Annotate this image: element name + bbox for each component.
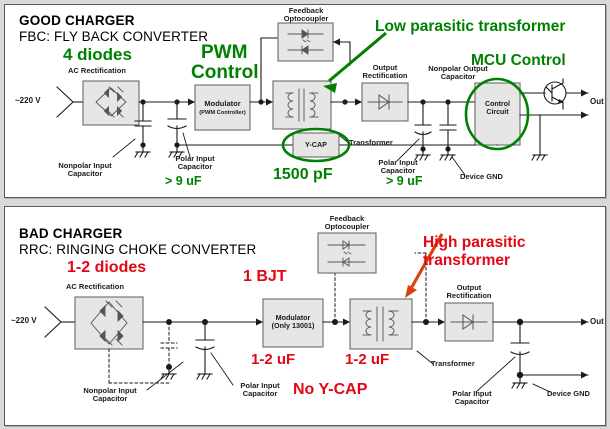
anno-high-parasitic-line1: High parasitic: [423, 235, 526, 251]
good-out-label: Out: [590, 97, 604, 106]
anno-polar-cap-left-value: > 9 uF: [165, 175, 201, 188]
good-device-gnd-label: Device GND: [460, 173, 503, 181]
transformer-block: [350, 299, 412, 349]
bad-charger-panel: BAD CHARGER RRC: RINGING CHOKE CONVERTER…: [4, 206, 606, 426]
good-ycap-label: Y-CAP: [293, 141, 339, 149]
anno-cap-value-right: 1-2 uF: [345, 352, 389, 368]
transistor-icon: [544, 79, 566, 109]
good-polar-output-cap-label: Polar Input Capacitor: [367, 159, 429, 176]
bad-device-gnd-label: Device GND: [547, 390, 590, 398]
good-nonpolar-input-cap-label: Nonpolar Input Capacitor: [45, 162, 125, 179]
ac-source-symbol: [45, 307, 61, 337]
anno-no-ycap: No Y-CAP: [293, 382, 367, 399]
bad-ac-rectification-label: AC Rectification: [66, 283, 124, 291]
good-charger-panel: GOOD CHARGER FBC: FLY BACK CONVERTER 4 d…: [4, 4, 606, 198]
ac-rectification-block: [75, 297, 143, 349]
bad-modulator-label: Modulator (Only 13001): [263, 314, 323, 331]
anno-pwm-line1: PWM: [201, 43, 247, 63]
bad-output-rectification-label: Output Rectification: [439, 284, 499, 301]
bad-nonpolar-input-cap-label: Nonpolar Input Capacitor: [70, 387, 150, 404]
good-ac-rectification-label: AC Rectification: [68, 67, 126, 75]
junction-dot: [140, 99, 145, 104]
good-source-label: ~220 V: [15, 97, 41, 106]
bad-panel-subtitle: RRC: RINGING CHOKE CONVERTER: [19, 242, 256, 257]
anno-1-2-diodes: 1-2 diodes: [67, 260, 146, 277]
anno-high-parasitic-line2: transformer: [423, 253, 510, 269]
good-feedback-optocoupler-label: Feedback Optocoupler: [273, 7, 339, 24]
good-control-circuit-label: Control Circuit: [475, 101, 520, 117]
ground-symbol: [532, 155, 547, 160]
bad-transformer-label: Transformer: [431, 360, 475, 368]
bad-source-label: ~220 V: [11, 317, 37, 326]
anno-pwm-line2: Control: [191, 63, 259, 83]
bad-feedback-optocoupler-label: Feedback Optocoupler: [314, 215, 380, 232]
good-nonpolar-output-cap-label: Nonpolar Output Capacitor: [415, 65, 501, 82]
ground-symbol: [135, 145, 150, 157]
bad-out-label: Out: [590, 317, 604, 326]
ground-symbol: [512, 375, 527, 388]
good-panel-title: GOOD CHARGER: [19, 13, 135, 28]
feedback-optocoupler-block: [318, 233, 376, 273]
anno-cap-value-left: 1-2 uF: [251, 352, 295, 368]
good-output-rectification-label: Output Rectification: [355, 64, 415, 81]
diagram-stage: GOOD CHARGER FBC: FLY BACK CONVERTER 4 d…: [0, 0, 610, 429]
anno-4-diodes: 4 diodes: [63, 46, 132, 64]
bad-polar-output-cap-label: Polar Input Capacitor: [441, 390, 503, 407]
junction-dot: [174, 99, 179, 104]
junction-dot: [342, 99, 347, 104]
ground-symbol: [197, 367, 212, 379]
good-modulator-label: Modulator (PWM Controller): [195, 100, 250, 116]
anno-low-parasitic-transformer: Low parasitic transformer: [375, 19, 565, 35]
transformer-block: [273, 81, 331, 129]
ac-source-symbol: [57, 87, 73, 117]
anno-ycap-value: 1500 pF: [273, 167, 333, 184]
good-polar-input-cap-label: Polar Input Capacitor: [165, 155, 225, 172]
bad-polar-input-cap-label: Polar Input Capacitor: [229, 382, 291, 399]
good-transformer-label: Transformer: [349, 139, 393, 147]
anno-polar-cap-right-value: > 9 uF: [386, 175, 422, 188]
good-panel-subtitle: FBC: FLY BACK CONVERTER: [19, 29, 208, 44]
anno-1-bjt: 1 BJT: [243, 269, 287, 286]
bad-panel-title: BAD CHARGER: [19, 226, 122, 241]
